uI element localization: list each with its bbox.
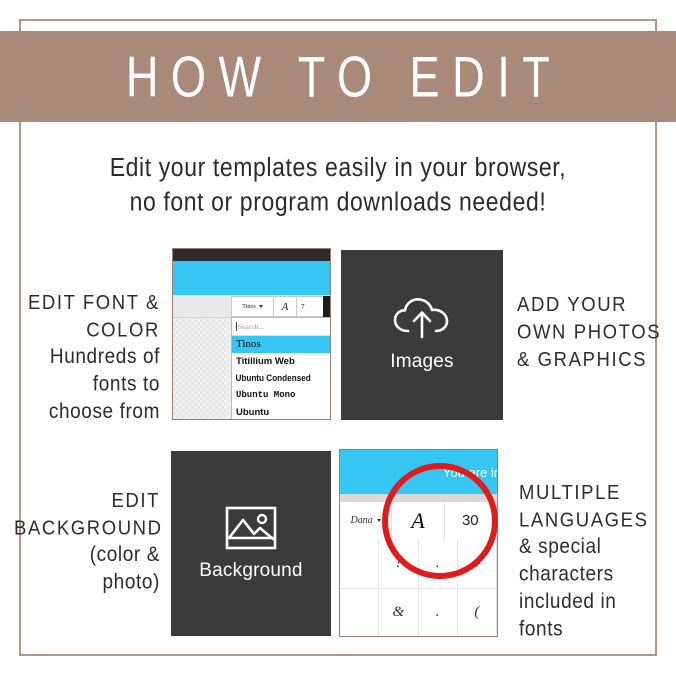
glyph-cell[interactable]: ! bbox=[379, 539, 418, 589]
glyph-style-icon[interactable]: A bbox=[392, 502, 444, 539]
images-card[interactable]: Images bbox=[341, 250, 503, 420]
poster-canvas: HOW TO EDIT Edit your templates easily i… bbox=[0, 0, 676, 676]
glyph-font-select[interactable]: Dana bbox=[340, 502, 392, 539]
font-family-select[interactable]: Tinos bbox=[231, 296, 274, 317]
font-list-item[interactable]: Titillium Web bbox=[232, 353, 331, 370]
font-list-item[interactable]: Tinos bbox=[232, 336, 331, 353]
toolbar-right-edge bbox=[323, 296, 330, 317]
panel-divider bbox=[340, 494, 497, 502]
caption-edit-background: EDITBACKGROUND (color &photo) bbox=[14, 486, 160, 596]
font-size-field[interactable]: 7 bbox=[297, 296, 326, 317]
glyph-cell[interactable]: # bbox=[458, 539, 497, 589]
script-a-glyph: A bbox=[411, 508, 424, 534]
caption-heading: EDIT FONT &COLOR bbox=[14, 288, 160, 343]
chevron-down-icon bbox=[377, 519, 381, 522]
background-card-label: Background bbox=[199, 560, 302, 582]
caption-body: & specialcharactersincluded infonts bbox=[519, 533, 669, 643]
glyph-grid[interactable]: ! . # & . ( bbox=[340, 539, 497, 637]
image-picture-icon bbox=[225, 506, 277, 550]
subtitle-line-1: Edit your templates easily in your brows… bbox=[0, 150, 676, 185]
font-family-value: Tinos bbox=[242, 304, 255, 310]
subtitle: Edit your templates easily in your brows… bbox=[0, 150, 676, 219]
images-card-label: Images bbox=[390, 351, 454, 373]
glyph-font-value: Dana bbox=[351, 515, 373, 526]
glyph-size-value: 30 bbox=[462, 512, 479, 529]
caption-body: (color &photo) bbox=[14, 541, 160, 596]
font-list-item[interactable]: Ubuntu bbox=[232, 404, 331, 420]
text-style-icon[interactable]: A bbox=[274, 296, 297, 317]
subtitle-line-2: no font or program downloads needed! bbox=[0, 185, 676, 220]
font-list-item[interactable]: Ubuntu Condensed bbox=[232, 370, 317, 387]
panel-titlebar bbox=[173, 249, 330, 261]
glyph-cell[interactable]: . bbox=[419, 539, 458, 589]
panel-banner-text: You are in bbox=[443, 465, 498, 480]
glyph-cell[interactable]: & bbox=[379, 589, 418, 638]
cloud-upload-icon bbox=[392, 297, 452, 341]
caption-add-photos: ADD YOUROWN PHOTOS& GRAPHICS bbox=[517, 290, 667, 373]
caption-heading: EDITBACKGROUND bbox=[14, 486, 160, 541]
panel-cyan-header bbox=[173, 261, 330, 295]
script-a-glyph: A bbox=[282, 301, 289, 313]
title-banner: HOW TO EDIT bbox=[0, 31, 676, 122]
background-card[interactable]: Background bbox=[171, 451, 331, 636]
glyph-cell[interactable] bbox=[340, 589, 379, 638]
caption-heading: MULTIPLELANGUAGES bbox=[519, 478, 669, 533]
chevron-down-icon bbox=[259, 305, 263, 308]
font-picker-panel[interactable]: Tinos A 7 Search... Tinos Titillium Web … bbox=[172, 248, 331, 420]
glyph-font-size[interactable]: 30 bbox=[445, 502, 497, 539]
font-size-value: 7 bbox=[301, 303, 305, 311]
glyph-toolbar[interactable]: Dana A 30 bbox=[340, 502, 497, 540]
caption-heading: ADD YOUROWN PHOTOS& GRAPHICS bbox=[517, 290, 667, 373]
font-toolbar[interactable]: Tinos A 7 bbox=[231, 296, 331, 317]
glyph-cell[interactable] bbox=[340, 539, 379, 589]
panel-cyan-banner: You are in bbox=[340, 450, 497, 494]
font-search-input[interactable]: Search... bbox=[232, 318, 331, 336]
caption-body: Hundreds offonts tochoose from bbox=[14, 343, 160, 426]
font-dropdown[interactable]: Search... Tinos Titillium Web Ubuntu Con… bbox=[231, 317, 331, 420]
glyph-cell[interactable]: . bbox=[419, 589, 458, 638]
caption-multiple-languages: MULTIPLELANGUAGES & specialcharactersinc… bbox=[519, 478, 669, 643]
glyph-cell[interactable]: ( bbox=[458, 589, 497, 638]
page-title: HOW TO EDIT bbox=[114, 48, 563, 105]
character-map-panel[interactable]: You are in Dana A 30 ! . # & . ( bbox=[339, 449, 498, 637]
font-list-item[interactable]: Ubuntu Mono bbox=[232, 387, 331, 404]
font-list[interactable]: Tinos Titillium Web Ubuntu Condensed Ubu… bbox=[232, 336, 331, 420]
caption-edit-font-color: EDIT FONT &COLOR Hundreds offonts tochoo… bbox=[14, 288, 160, 426]
